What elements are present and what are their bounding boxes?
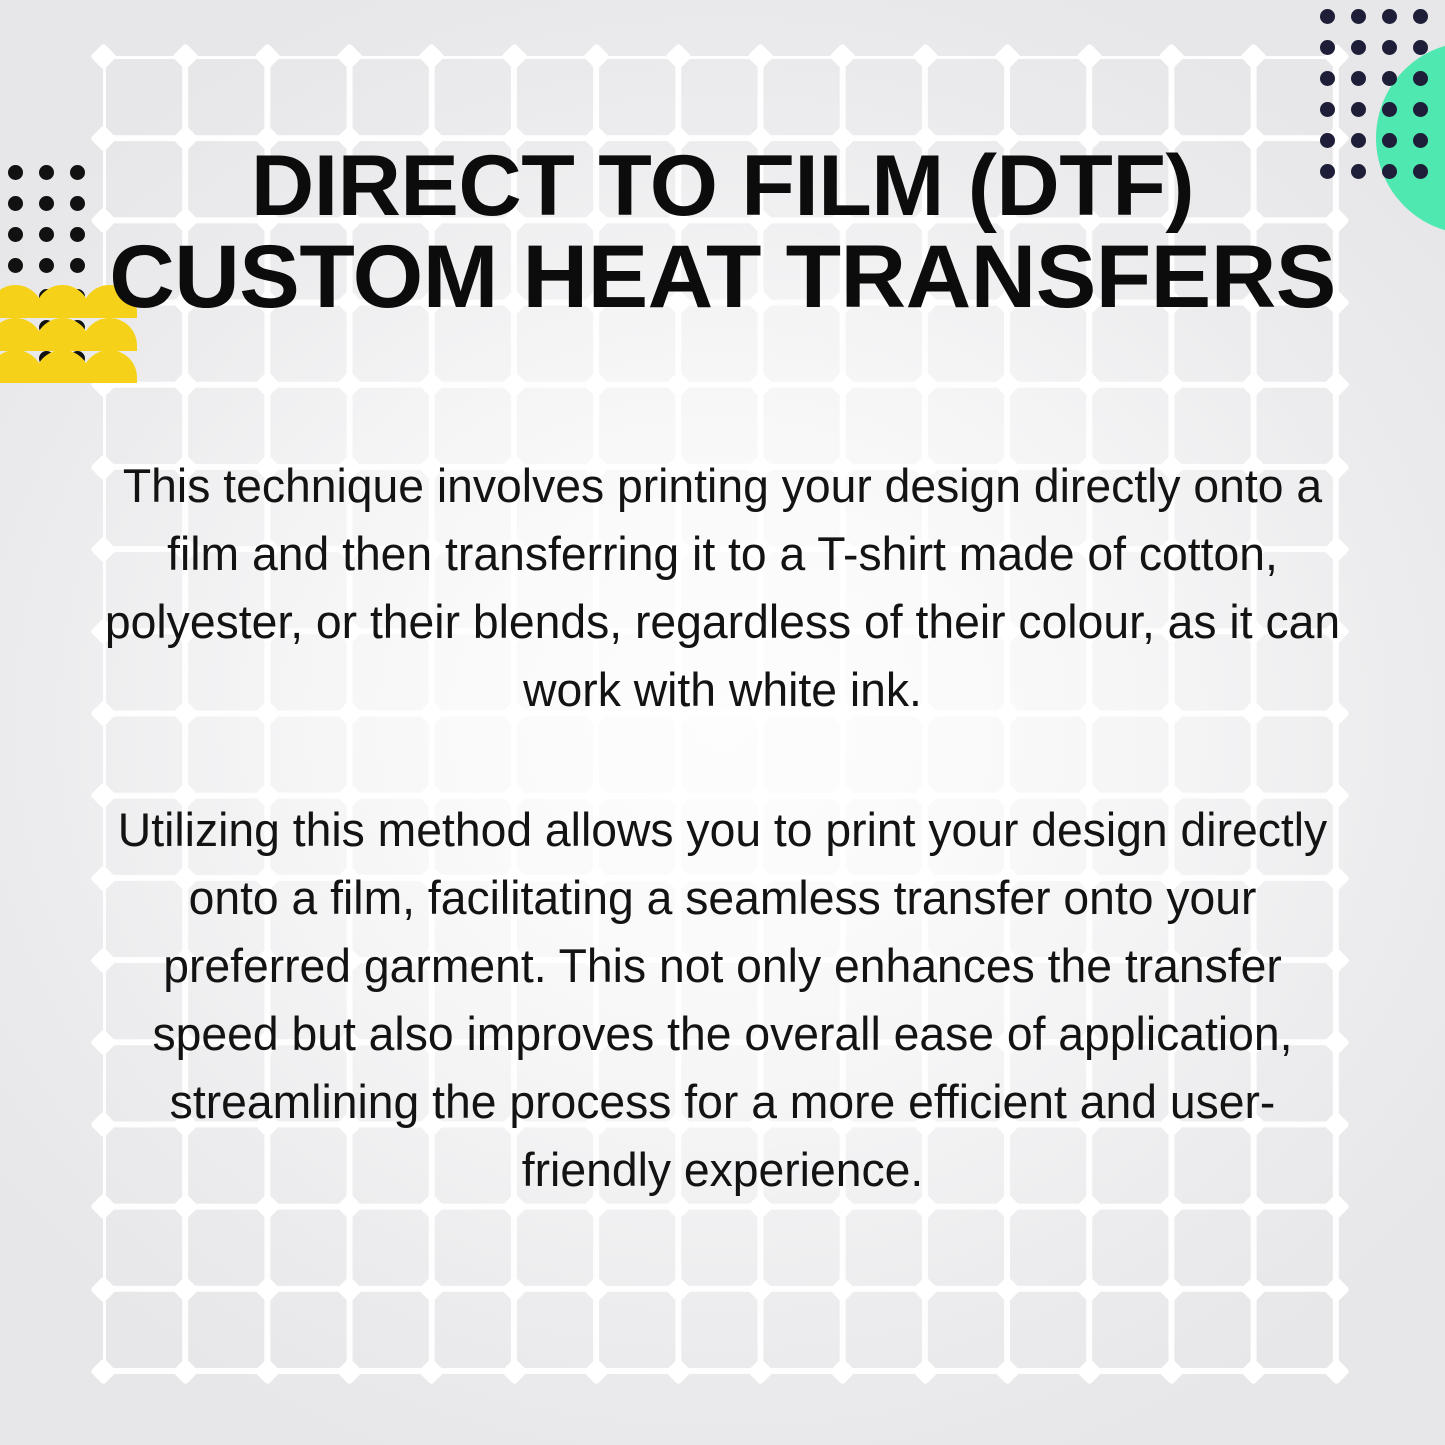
poster-content: DIRECT TO FILM (DTF) CUSTOM HEAT TRANSFE… [0, 0, 1445, 1445]
title-line-2: CUSTOM HEAT TRANSFERS [77, 231, 1367, 323]
poster-canvas: DIRECT TO FILM (DTF) CUSTOM HEAT TRANSFE… [0, 0, 1445, 1445]
paragraph-1: This technique involves printing your de… [104, 452, 1340, 724]
paragraph-2: Utilizing this method allows you to prin… [104, 796, 1340, 1204]
title-line-1: DIRECT TO FILM (DTF) [77, 142, 1367, 231]
page-title: DIRECT TO FILM (DTF) CUSTOM HEAT TRANSFE… [77, 142, 1367, 322]
body-copy: This technique involves printing your de… [104, 452, 1340, 1204]
